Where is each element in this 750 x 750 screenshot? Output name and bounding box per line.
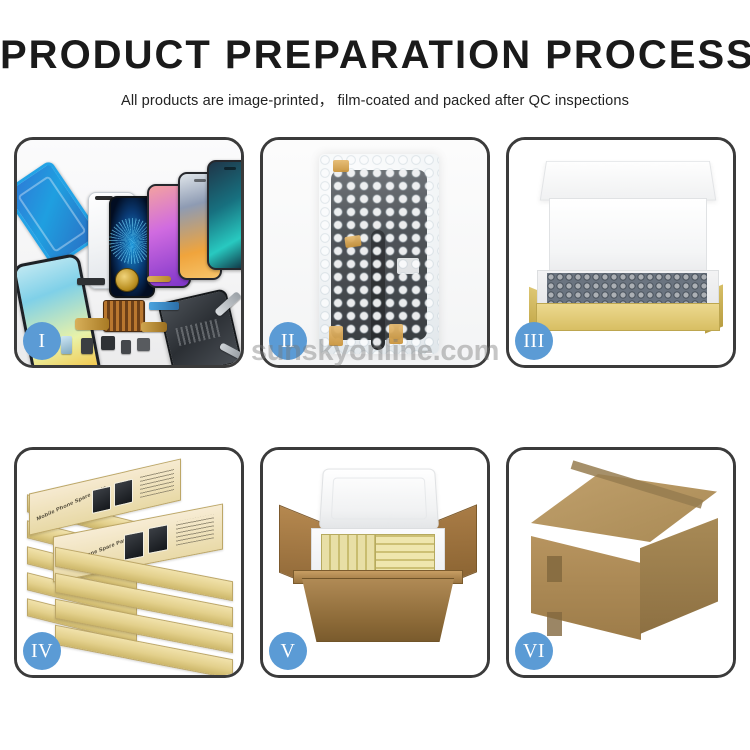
panel-step-5[interactable]: V [260, 447, 490, 678]
box-screen-image-back-a [92, 486, 111, 514]
small-component-a [81, 338, 93, 354]
process-step-grid: I II III [14, 137, 736, 678]
carton-tape-upper [547, 556, 562, 582]
tape-strip-bottom-right [389, 324, 403, 344]
carton-body [297, 578, 459, 642]
carton-tape-lower [547, 612, 562, 636]
sim-tray-part [61, 336, 72, 354]
small-component-c [121, 340, 131, 354]
box-spec-lines-front [176, 514, 214, 545]
foam-box-lid [319, 469, 439, 530]
tape-strip-top [333, 160, 349, 172]
bubble-wrap-bag [319, 154, 439, 354]
box-screen-image-front-b [148, 524, 168, 554]
bubble-wrapped-contents [547, 273, 707, 303]
flex-cable-part-a [147, 276, 171, 282]
box-screen-image-front-a [124, 531, 144, 561]
flex-cable-part-d [141, 322, 167, 332]
panel-step-2[interactable]: II [260, 137, 490, 368]
step-badge-1: I [23, 322, 61, 360]
page-title: PRODUCT PREPARATION PROCESS [0, 34, 750, 76]
page-header: PRODUCT PREPARATION PROCESS All products… [0, 0, 750, 110]
panel-step-3[interactable]: III [506, 137, 736, 368]
step-badge-2: II [269, 322, 307, 360]
panel-step-4[interactable]: Mobile Phone Spare Parts Mobile Phone Sp… [14, 447, 244, 678]
step-badge-6: VI [515, 632, 553, 670]
small-component-d [137, 338, 150, 351]
chip-grid-part [103, 300, 145, 332]
flex-cable-part-b [149, 302, 179, 310]
page-subtitle: All products are image-printed， film-coa… [0, 89, 750, 110]
box-spec-lines-back [140, 468, 174, 498]
bubble-texture [319, 154, 439, 354]
panel-step-6[interactable]: VI [506, 447, 736, 678]
phone-teal-graphic [207, 160, 241, 270]
box-front-wall [536, 303, 720, 331]
flex-cable-part-c [75, 318, 109, 330]
small-component-b [101, 336, 115, 350]
tape-strip-middle [344, 235, 361, 248]
speaker-coin-part [115, 268, 139, 292]
box-screen-image-back-b [114, 479, 133, 507]
box-stack: Mobile Phone Spare Parts Mobile Phone Sp… [25, 472, 239, 658]
tape-strip-bottom-left [329, 326, 343, 346]
box-lid-open [540, 161, 717, 201]
earpiece-part [77, 278, 105, 285]
step-badge-5: V [269, 632, 307, 670]
step-badge-4: IV [23, 632, 61, 670]
step-badge-3: III [515, 322, 553, 360]
panel-step-1[interactable]: I [14, 137, 244, 368]
foam-back-panel [549, 198, 707, 276]
